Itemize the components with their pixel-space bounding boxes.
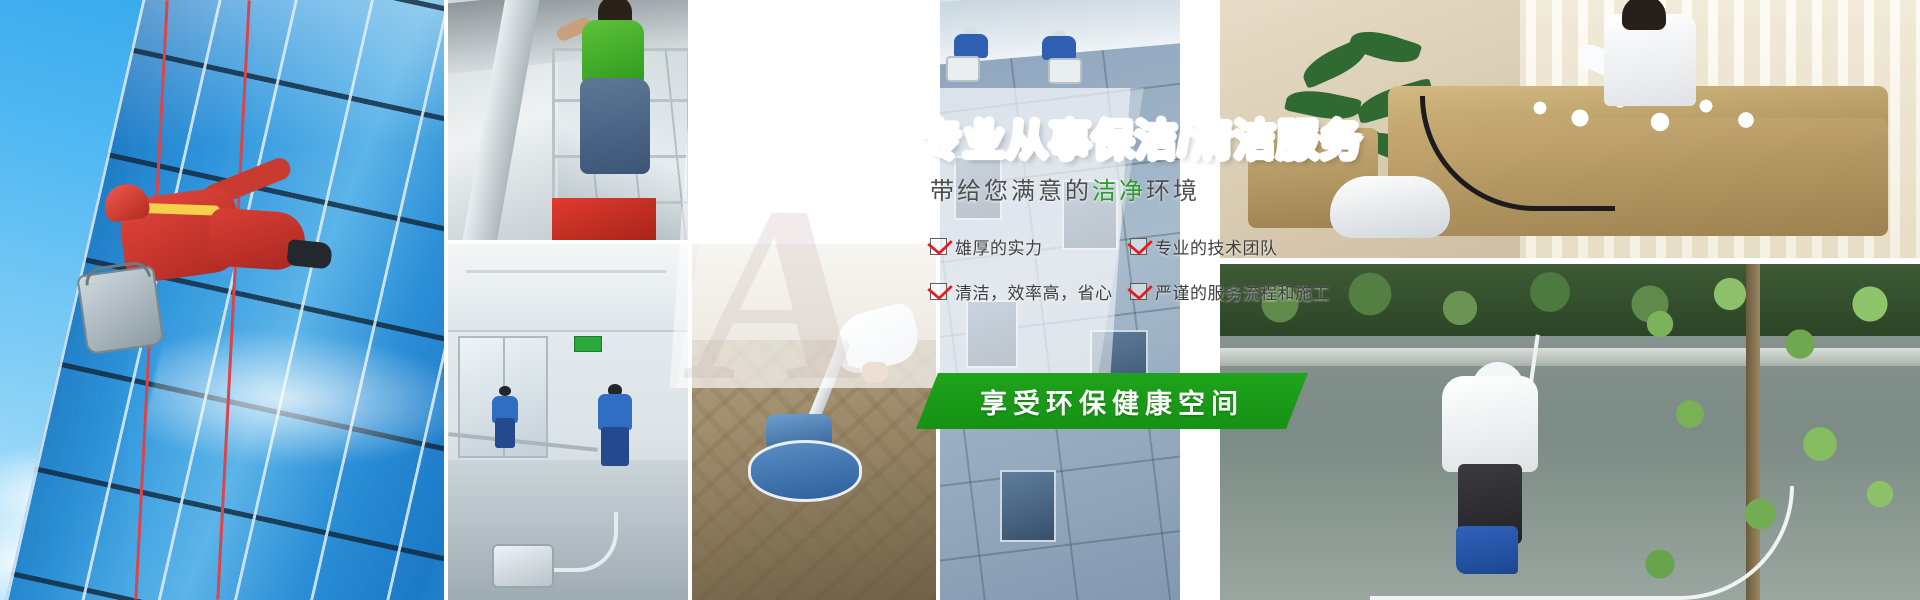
feature-item: 严谨的服务流程和施工 [1130,279,1342,304]
paint-roller-icon [946,56,980,82]
feature-label: 严谨的服务流程和施工 [1155,279,1330,304]
subtitle-highlight: 洁净 [1092,178,1146,205]
cta-label: 享受环保健康空间 [916,373,1308,429]
checkbox-checked-icon [1130,283,1147,300]
plant-leaf [1348,24,1423,70]
worker-boot [286,239,332,269]
subtitle: 带给您满意的洁净环境 [930,180,1372,204]
feature-item: 专业的技术团队 [1130,234,1342,259]
checkbox-checked-icon [930,238,947,255]
feature-label: 清洁，效率高，省心 [955,279,1113,304]
checkbox-checked-icon [930,283,947,300]
lift-base [552,198,656,240]
feature-label: 雄厚的实力 [955,234,1043,259]
worker-torso [1042,36,1076,60]
cleaning-bucket-icon [76,265,164,355]
cta-banner[interactable]: 享受环保健康空间 [916,373,1308,429]
photo-indoor-lift-window-cleaner [448,0,688,240]
feature-item: 雄厚的实力 [930,234,1130,259]
headline: 专业从事保洁/清洁服务 [920,120,1372,162]
paint-roller-icon [1048,58,1082,84]
worker-figure [954,28,988,58]
feature-label: 专业的技术团队 [1155,234,1278,259]
worker-helmet [102,181,151,223]
window-pane [1000,470,1056,542]
subtitle-before: 带给您满意的 [930,178,1092,205]
panel-seam [444,0,448,600]
banner-content: 专业从事保洁/清洁服务 带给您满意的洁净环境 雄厚的实力 专业的技术团队 清洁，… [752,120,1372,304]
worker-head [1622,0,1666,30]
worker-figure [492,386,518,448]
feature-item: 清洁，效率高，省心 [930,279,1130,304]
worker-torso [954,34,988,58]
cleaning-service-banner: A 专业从事保洁/清洁服务 带给您满意的洁净环境 雄厚的实力 专业的技术团队 清… [0,0,1920,600]
worker-figure [80,163,299,369]
feature-list: 雄厚的实力 专业的技术团队 清洁，效率高，省心 严谨的服务流程和施工 [930,234,1342,304]
worker-legs [601,427,628,466]
window-pane [966,300,1018,368]
ceiling [448,244,688,332]
checkbox-checked-icon [1130,238,1147,255]
worker-figure [598,384,632,466]
floor-polisher-icon [748,440,862,502]
photo-pond-garden-cleaning [1220,264,1920,600]
subtitle-after: 环境 [1146,178,1200,205]
headline-text: 专业从事保洁/清洁服务 [920,117,1363,164]
vacuum-machine-icon [492,544,554,588]
worker-green-shirt [582,20,644,84]
worker-white-coat [1442,376,1538,472]
worker-head [499,386,510,396]
photo-rope-access-window-cleaner [0,0,444,600]
worker-legs [495,418,516,448]
panel-seam [688,0,692,600]
photo-corridor-floor-mopping [448,244,688,600]
exit-sign-icon [574,336,602,352]
worker-torso [598,394,632,430]
water-hose [1370,486,1794,600]
worker-jeans [580,78,650,174]
operator-hand [862,362,888,382]
worker-figure [1042,30,1076,60]
